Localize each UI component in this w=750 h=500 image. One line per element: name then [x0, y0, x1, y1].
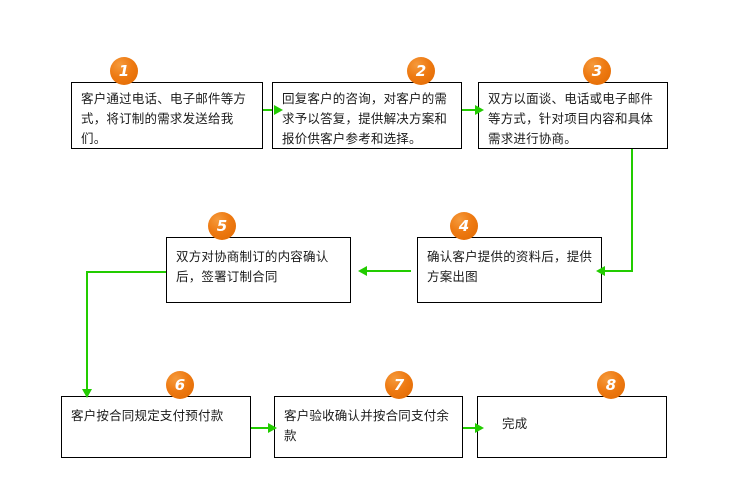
- connector-3-to-4-vertical: [631, 148, 633, 272]
- arrowhead-5-to-6: [82, 389, 92, 398]
- flowchart-canvas: 客户通过电话、电子邮件等方式，将订制的需求发送给我们。 1 回复客户的咨询，对客…: [0, 0, 750, 500]
- flow-step-box-5[interactable]: 双方对协商制订的内容确认后，签署订制合同: [166, 237, 351, 303]
- arrowhead-2-to-3: [475, 105, 484, 115]
- step-badge-2: 2: [407, 57, 435, 85]
- flow-step-box-8[interactable]: 完成: [477, 396, 667, 458]
- arrowhead-6-to-7: [268, 423, 277, 433]
- flow-step-box-1[interactable]: 客户通过电话、电子邮件等方式，将订制的需求发送给我们。: [71, 82, 263, 149]
- flow-step-box-7[interactable]: 客户验收确认并按合同支付余款: [274, 396, 463, 458]
- step-badge-1: 1: [110, 57, 138, 85]
- flow-step-box-4[interactable]: 确认客户提供的资料后，提供方案出图: [417, 237, 602, 303]
- flow-step-text-6: 客户按合同规定支付预付款: [71, 406, 243, 426]
- flow-step-text-7: 客户验收确认并按合同支付余款: [284, 406, 455, 446]
- arrowhead-4-to-5: [358, 266, 367, 276]
- connector-3-to-4-horizontal: [602, 270, 633, 272]
- arrowhead-7-to-8: [475, 423, 484, 433]
- step-badge-7: 7: [385, 371, 413, 399]
- step-badge-4: 4: [450, 212, 478, 240]
- step-badge-8: 8: [597, 371, 625, 399]
- flow-step-box-2[interactable]: 回复客户的咨询，对客户的需求予以答复，提供解决方案和报价供客户参考和选择。: [272, 82, 462, 149]
- connector-5-to-6-vertical: [86, 271, 88, 391]
- flow-step-box-3[interactable]: 双方以面谈、电话或电子邮件等方式，针对项目内容和具体需求进行协商。: [478, 82, 668, 149]
- flow-step-text-8: 完成: [502, 414, 659, 434]
- step-badge-5: 5: [208, 212, 236, 240]
- step-badge-6: 6: [166, 371, 194, 399]
- connector-4-to-5: [366, 270, 411, 272]
- flow-step-box-6[interactable]: 客户按合同规定支付预付款: [61, 396, 251, 458]
- step-badge-3: 3: [583, 57, 611, 85]
- flow-step-text-2: 回复客户的咨询，对客户的需求予以答复，提供解决方案和报价供客户参考和选择。: [282, 89, 454, 149]
- flow-step-text-4: 确认客户提供的资料后，提供方案出图: [427, 247, 594, 287]
- arrowhead-3-to-4: [596, 266, 605, 276]
- flow-step-text-5: 双方对协商制订的内容确认后，签署订制合同: [176, 247, 343, 287]
- flow-step-text-3: 双方以面谈、电话或电子邮件等方式，针对项目内容和具体需求进行协商。: [488, 89, 660, 149]
- flow-step-text-1: 客户通过电话、电子邮件等方式，将订制的需求发送给我们。: [81, 89, 255, 149]
- connector-5-to-6-horizontal: [86, 271, 168, 273]
- arrowhead-1-to-2: [274, 105, 283, 115]
